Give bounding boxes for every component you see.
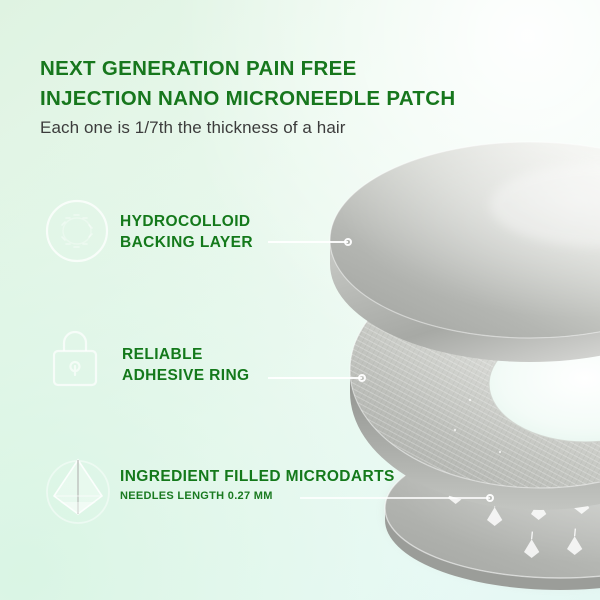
- label-microdarts: INGREDIENT FILLED MICRODARTS NEEDLES LEN…: [120, 466, 395, 502]
- headline: NEXT GENERATION PAIN FREE INJECTION NANO…: [40, 54, 455, 114]
- label-microdarts-subtitle: NEEDLES LENGTH 0.27 MM: [120, 490, 395, 502]
- leader-line-hydrocolloid: [268, 241, 348, 243]
- leader-endpoint-dot: [358, 374, 366, 382]
- padlock-icon: [44, 326, 106, 393]
- label-adhesive-title: RELIABLE ADHESIVE RING: [122, 344, 250, 386]
- label-hydrocolloid: HYDROCOLLOID BACKING LAYER: [120, 211, 253, 253]
- label-hydrocolloid-title: HYDROCOLLOID BACKING LAYER: [120, 211, 253, 253]
- promo-infographic: NEXT GENERATION PAIN FREE INJECTION NANO…: [0, 0, 600, 600]
- leader-endpoint-dot: [344, 238, 352, 246]
- label-microdarts-title: INGREDIENT FILLED MICRODARTS: [120, 466, 395, 487]
- circle-dotted-icon: [44, 198, 110, 269]
- subheadline: Each one is 1/7th the thickness of a hai…: [40, 118, 346, 138]
- leader-line-adhesive: [268, 377, 362, 379]
- leader-endpoint-dot: [486, 494, 494, 502]
- label-adhesive: RELIABLE ADHESIVE RING: [122, 344, 250, 386]
- microdart-cone-icon: [40, 452, 116, 533]
